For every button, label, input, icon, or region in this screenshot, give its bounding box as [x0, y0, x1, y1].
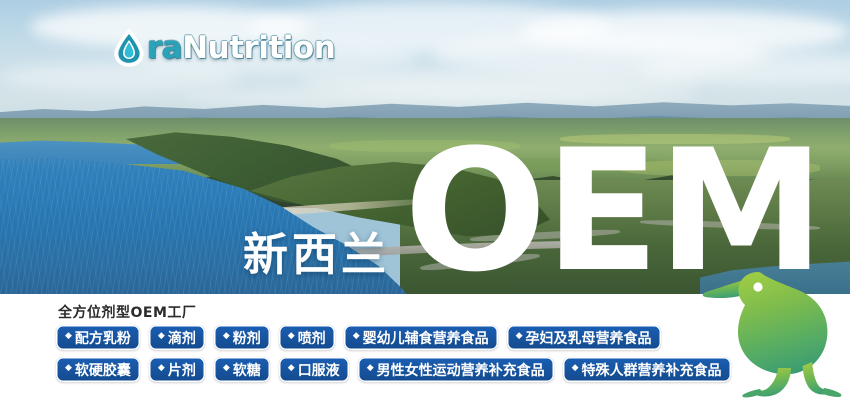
- tag-item[interactable]: ◆软硬胶囊: [56, 357, 140, 382]
- diamond-icon: ◆: [223, 364, 230, 373]
- brand-name-rest: Nutrition: [182, 30, 335, 66]
- tag-label: 软硬胶囊: [75, 360, 131, 380]
- tag-label: 喷剂: [298, 328, 326, 348]
- tag-label: 粉剂: [233, 328, 261, 348]
- tag-item[interactable]: ◆口服液: [279, 357, 349, 382]
- diamond-icon: ◆: [65, 332, 72, 341]
- tag-row-2: ◆软硬胶囊 ◆片剂 ◆软糖 ◆口服液 ◆男性女性运动营养补充食品 ◆特殊人群营养…: [56, 357, 731, 382]
- diamond-icon: ◆: [158, 364, 165, 373]
- water-drop-icon: [112, 29, 146, 67]
- tag-label: 片剂: [168, 360, 196, 380]
- tag-item[interactable]: ◆粉剂: [214, 325, 270, 350]
- brand-logo[interactable]: raNutrition: [112, 26, 335, 70]
- brand-name: raNutrition: [147, 33, 335, 64]
- tag-label: 孕妇及乳母营养食品: [526, 328, 652, 348]
- tag-row-1: ◆配方乳粉 ◆滴剂 ◆粉剂 ◆喷剂 ◆婴幼儿辅食营养食品 ◆孕妇及乳母营养食品: [56, 325, 661, 350]
- country-label: 新西兰: [243, 232, 390, 277]
- cloud: [180, 86, 700, 108]
- diamond-icon: ◆: [353, 332, 360, 341]
- diamond-icon: ◆: [288, 364, 295, 373]
- diamond-icon: ◆: [223, 332, 230, 341]
- tag-item[interactable]: ◆孕妇及乳母营养食品: [507, 325, 661, 350]
- tag-item[interactable]: ◆喷剂: [279, 325, 335, 350]
- oem-banner: raNutrition 新西兰 OEM: [0, 0, 850, 400]
- tag-item[interactable]: ◆软糖: [214, 357, 270, 382]
- diamond-icon: ◆: [158, 332, 165, 341]
- brand-name-text: raNutrition: [147, 30, 335, 66]
- tag-label: 滴剂: [168, 328, 196, 348]
- tag-item[interactable]: ◆配方乳粉: [56, 325, 140, 350]
- tag-item[interactable]: ◆片剂: [149, 357, 205, 382]
- diamond-icon: ◆: [516, 332, 523, 341]
- diamond-icon: ◆: [572, 364, 579, 373]
- diamond-icon: ◆: [288, 332, 295, 341]
- tag-label: 口服液: [298, 360, 340, 380]
- tag-item[interactable]: ◆滴剂: [149, 325, 205, 350]
- diamond-icon: ◆: [65, 364, 72, 373]
- tag-item[interactable]: ◆男性女性运动营养补充食品: [358, 357, 554, 382]
- diamond-icon: ◆: [367, 364, 374, 373]
- tag-label: 配方乳粉: [75, 328, 131, 348]
- tag-label: 男性女性运动营养补充食品: [377, 360, 545, 380]
- tag-item[interactable]: ◆婴幼儿辅食营养食品: [344, 325, 498, 350]
- panel-title: 全方位剂型OEM工厂: [58, 302, 196, 322]
- tag-label: 软糖: [233, 360, 261, 380]
- brand-name-accent: ra: [147, 30, 182, 66]
- tag-label: 婴幼儿辅食营养食品: [363, 328, 489, 348]
- kiwi-bird-icon: [700, 258, 850, 400]
